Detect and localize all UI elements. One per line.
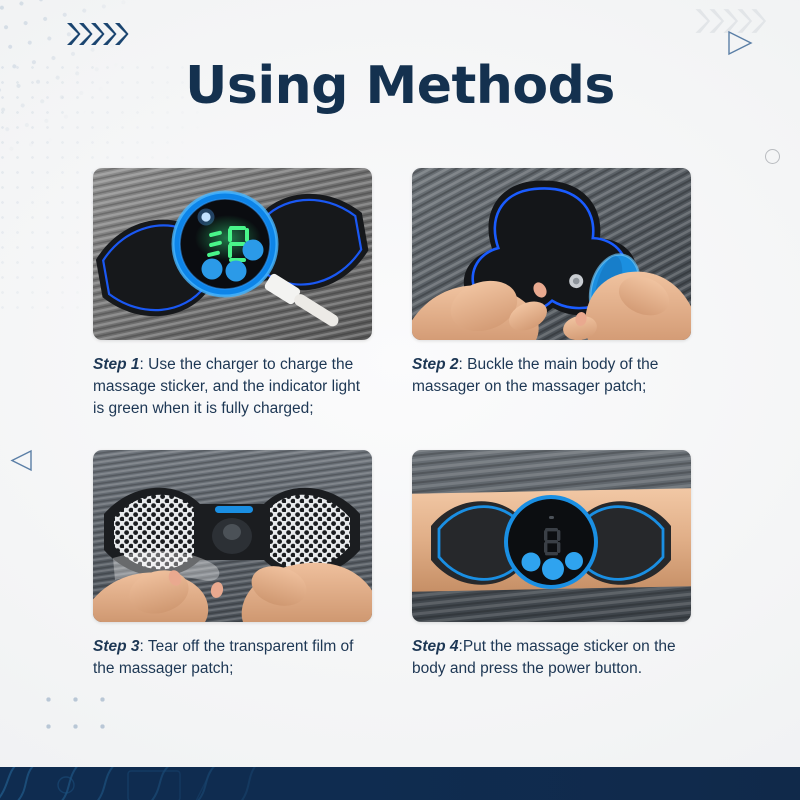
- step-label-3: Step 3: [93, 638, 140, 655]
- step-label-4: Step 4: [412, 638, 459, 655]
- step-caption-1: Step 1: Use the charger to charge the ma…: [93, 354, 372, 420]
- footer-texture: [0, 767, 800, 800]
- step-label-2: Step 2: [412, 356, 459, 373]
- tear-film-photo: [93, 450, 372, 622]
- step-caption-3: Step 3: Tear off the transparent film of…: [93, 636, 372, 680]
- step-card-3: Step 3: Tear off the transparent film of…: [93, 450, 372, 680]
- step-card-4: Step 4:Put the massage sticker on the bo…: [412, 450, 691, 680]
- circle-outline-decoration: [765, 149, 780, 164]
- step-card-1: Step 1: Use the charger to charge the ma…: [93, 168, 372, 420]
- triangle-left-outline-icon: [10, 449, 34, 472]
- step-caption-4: Step 4:Put the massage sticker on the bo…: [412, 636, 691, 680]
- dot-grid-decoration: [33, 684, 115, 746]
- footer-bar: [0, 767, 800, 800]
- buckle-main-body-photo: [412, 168, 691, 340]
- triangle-right-outline-icon: [726, 30, 754, 56]
- step-label-1: Step 1: [93, 356, 140, 373]
- chevron-right-icon: [114, 22, 129, 46]
- page-title: Using Methods: [0, 56, 800, 116]
- step-separator-1: :: [140, 356, 149, 373]
- product-instruction-page: Using Methods: [0, 0, 800, 800]
- step-card-2: Step 2: Buckle the main body of the mass…: [412, 168, 691, 420]
- chevron-group-left: [66, 22, 126, 46]
- step-separator-2: :: [459, 356, 468, 373]
- step-separator-3: :: [140, 638, 148, 655]
- massager-charging-photo: [93, 168, 372, 340]
- step-caption-2: Step 2: Buckle the main body of the mass…: [412, 354, 691, 398]
- apply-to-body-photo: [412, 450, 691, 622]
- steps-grid: Step 1: Use the charger to charge the ma…: [93, 168, 691, 680]
